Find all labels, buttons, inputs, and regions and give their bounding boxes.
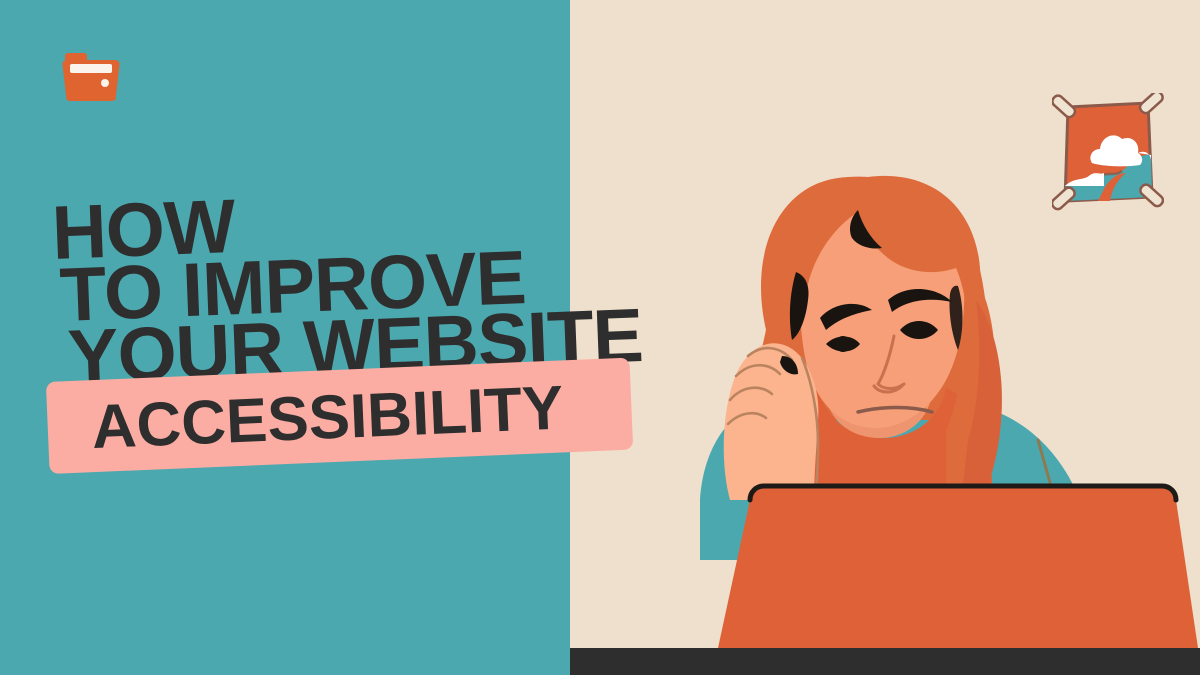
bored-woman-at-laptop-illustration (570, 0, 1200, 675)
right-pupil-shape (911, 322, 927, 338)
desk-bar (570, 648, 1200, 675)
left-pupil-shape (835, 336, 851, 352)
laptop-screen-shape (718, 486, 1198, 648)
banner-canvas: HOW TO IMPROVE YOUR WEBSITE ACCESSIBILIT… (0, 0, 1200, 675)
illustration-svg (570, 0, 1200, 675)
